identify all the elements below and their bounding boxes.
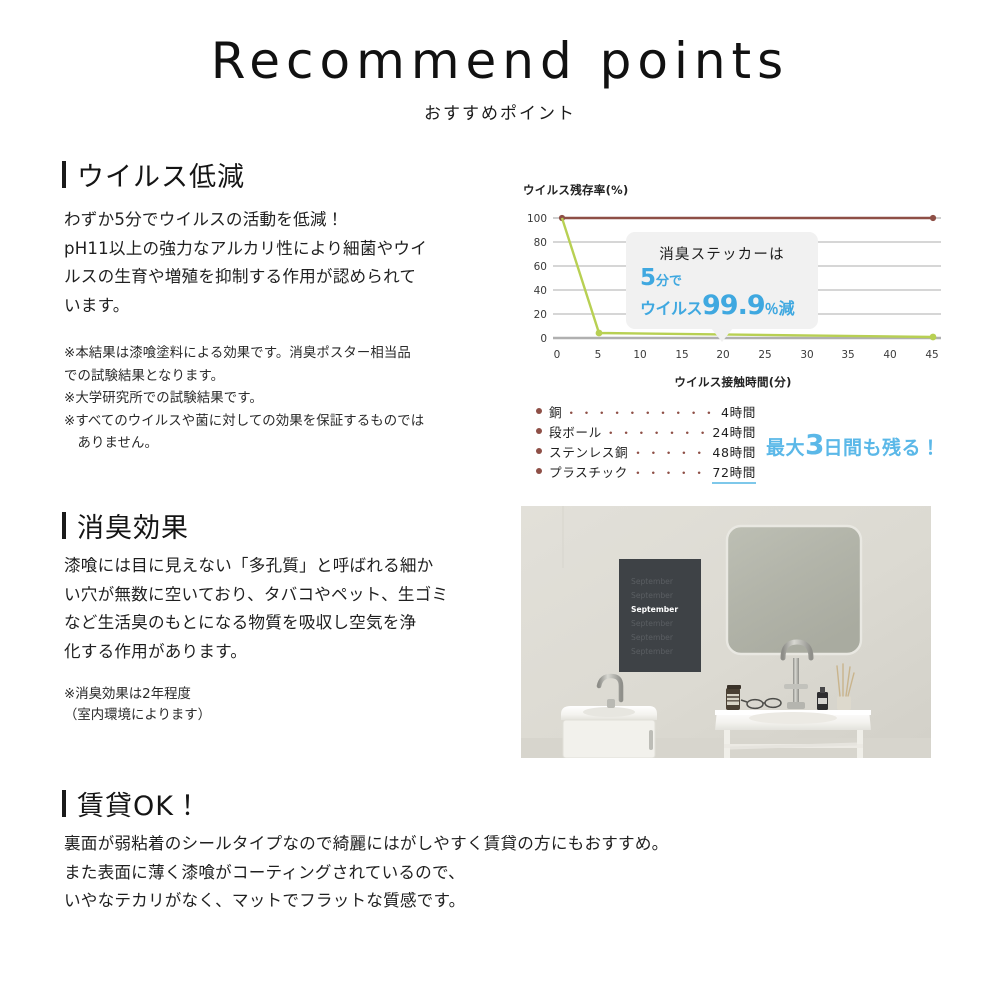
- svg-text:40: 40: [883, 349, 896, 361]
- section-heading-deodorize: 消臭効果: [62, 506, 189, 545]
- section-body-virus: わずか5分でウイルスの活動を低減！ pH11以上の強力なアルカリ性により細菌やウ…: [64, 206, 524, 320]
- callout-reduce-word: 減: [779, 299, 795, 318]
- svg-text:September: September: [631, 591, 674, 600]
- section-title-rental: 賃貸OK！: [77, 784, 202, 823]
- legend-dot-icon: [536, 408, 542, 414]
- svg-text:0: 0: [554, 349, 561, 361]
- chart-y-axis-label: ウイルス残存率(%): [523, 182, 629, 198]
- section-body-deodorize: 漆喰には目に見えない「多孔質」と呼ばれる細か い穴が無数に空いており、タバコやペ…: [64, 552, 524, 666]
- section-title-virus: ウイルス低減: [77, 155, 245, 194]
- svg-text:10: 10: [633, 349, 646, 361]
- tagline-max-days: 最大3日間も残る！: [766, 428, 941, 461]
- section-heading-virus: ウイルス低減: [62, 155, 245, 194]
- virus-survival-chart: ウイルス残存率(%) 100 80 60 40: [523, 182, 943, 392]
- legend-item: プラスチック ・・・・・ 72時間: [536, 462, 756, 482]
- tagline-suffix: 日間も残る！: [824, 437, 941, 459]
- svg-text:September: September: [631, 619, 674, 628]
- svg-text:25: 25: [758, 349, 771, 361]
- callout-minutes-number: 5: [640, 265, 656, 291]
- callout-percent-symbol: ％: [765, 302, 779, 318]
- svg-text:September: September: [631, 605, 678, 614]
- legend-item-name: プラスチック: [549, 462, 628, 481]
- svg-text:September: September: [631, 633, 674, 642]
- legend-item: 段ボール ・・・・・・・・ 24時間: [536, 422, 756, 442]
- heading-bar-icon: [62, 161, 66, 188]
- section-heading-rental: 賃貸OK！: [62, 784, 202, 823]
- callout-minutes-unit: 分で: [656, 274, 682, 289]
- legend-leader-dots: ・・・・・・・・・・: [565, 404, 718, 421]
- svg-text:80: 80: [534, 237, 547, 249]
- svg-text:15: 15: [675, 349, 688, 361]
- bathroom-interior-photo: September September September September …: [521, 506, 931, 758]
- callout-line-1: 消臭ステッカーは: [636, 243, 808, 264]
- callout-line-3: ウイルス99.9％減: [636, 292, 808, 319]
- legend-dot-icon: [536, 448, 542, 454]
- legend-leader-dots: ・・・・・: [631, 444, 709, 461]
- callout-virus-word: ウイルス: [640, 299, 702, 318]
- callout-line-2: 5分で: [636, 267, 808, 290]
- svg-text:35: 35: [841, 349, 854, 361]
- legend-item: ステンレス銅 ・・・・・ 48時間: [536, 442, 756, 462]
- legend-dot-icon: [536, 468, 542, 474]
- chart-x-axis-label: ウイルス接触時間(分): [523, 374, 943, 390]
- tagline-prefix: 最大: [766, 437, 805, 459]
- legend-item-name: ステンレス銅: [549, 442, 628, 461]
- section-body-rental: 裏面が弱粘着のシールタイプなので綺麗にはがしやすく賃貸の方にもおすすめ。 また表…: [64, 830, 864, 916]
- callout-percent-number: 99.9: [702, 290, 765, 321]
- section-notes-virus: ※本結果は漆喰塗料による効果です。消臭ポスター相当品 での試験結果となります。 …: [64, 343, 534, 456]
- page-subtitle: おすすめポイント: [0, 99, 1000, 124]
- legend-item-name: 銅: [549, 402, 562, 421]
- legend-item-value: 24時間: [712, 422, 756, 441]
- heading-bar-icon: [62, 790, 66, 817]
- tagline-number: 3: [805, 428, 823, 461]
- svg-text:40: 40: [534, 285, 547, 297]
- section-title-deodorize: 消臭効果: [77, 506, 189, 545]
- legend-item-value: 48時間: [712, 442, 756, 461]
- legend-item-value: 4時間: [721, 402, 756, 421]
- svg-text:September: September: [631, 647, 674, 656]
- legend-leader-dots: ・・・・・: [631, 464, 709, 481]
- svg-text:September: September: [631, 577, 674, 586]
- legend-dot-icon: [536, 428, 542, 434]
- svg-text:0: 0: [540, 333, 547, 345]
- page-header: Recommend points おすすめポイント: [0, 34, 1000, 124]
- chart-legend: 銅 ・・・・・・・・・・ 4時間 段ボール ・・・・・・・・ 24時間 ステンレ…: [536, 402, 756, 482]
- chart-callout: 消臭ステッカーは 5分で ウイルス99.9％減: [626, 232, 818, 329]
- poster-page: Recommend points おすすめポイント ウイルス低減 わずか5分でウ…: [0, 0, 1000, 1000]
- heading-bar-icon: [62, 512, 66, 539]
- legend-leader-dots: ・・・・・・・・: [605, 424, 710, 441]
- legend-item-value-highlighted: 72時間: [712, 462, 756, 484]
- svg-text:45: 45: [925, 349, 938, 361]
- svg-text:20: 20: [716, 349, 729, 361]
- section-notes-deodorize: ※消臭効果は2年程度 （室内環境によります）: [64, 684, 484, 727]
- svg-text:100: 100: [527, 213, 547, 225]
- svg-text:60: 60: [534, 261, 547, 273]
- page-title: Recommend points: [0, 34, 1000, 89]
- svg-text:5: 5: [595, 349, 602, 361]
- svg-text:20: 20: [534, 309, 547, 321]
- legend-item: 銅 ・・・・・・・・・・ 4時間: [536, 402, 756, 422]
- svg-text:30: 30: [800, 349, 813, 361]
- legend-item-name: 段ボール: [549, 422, 602, 441]
